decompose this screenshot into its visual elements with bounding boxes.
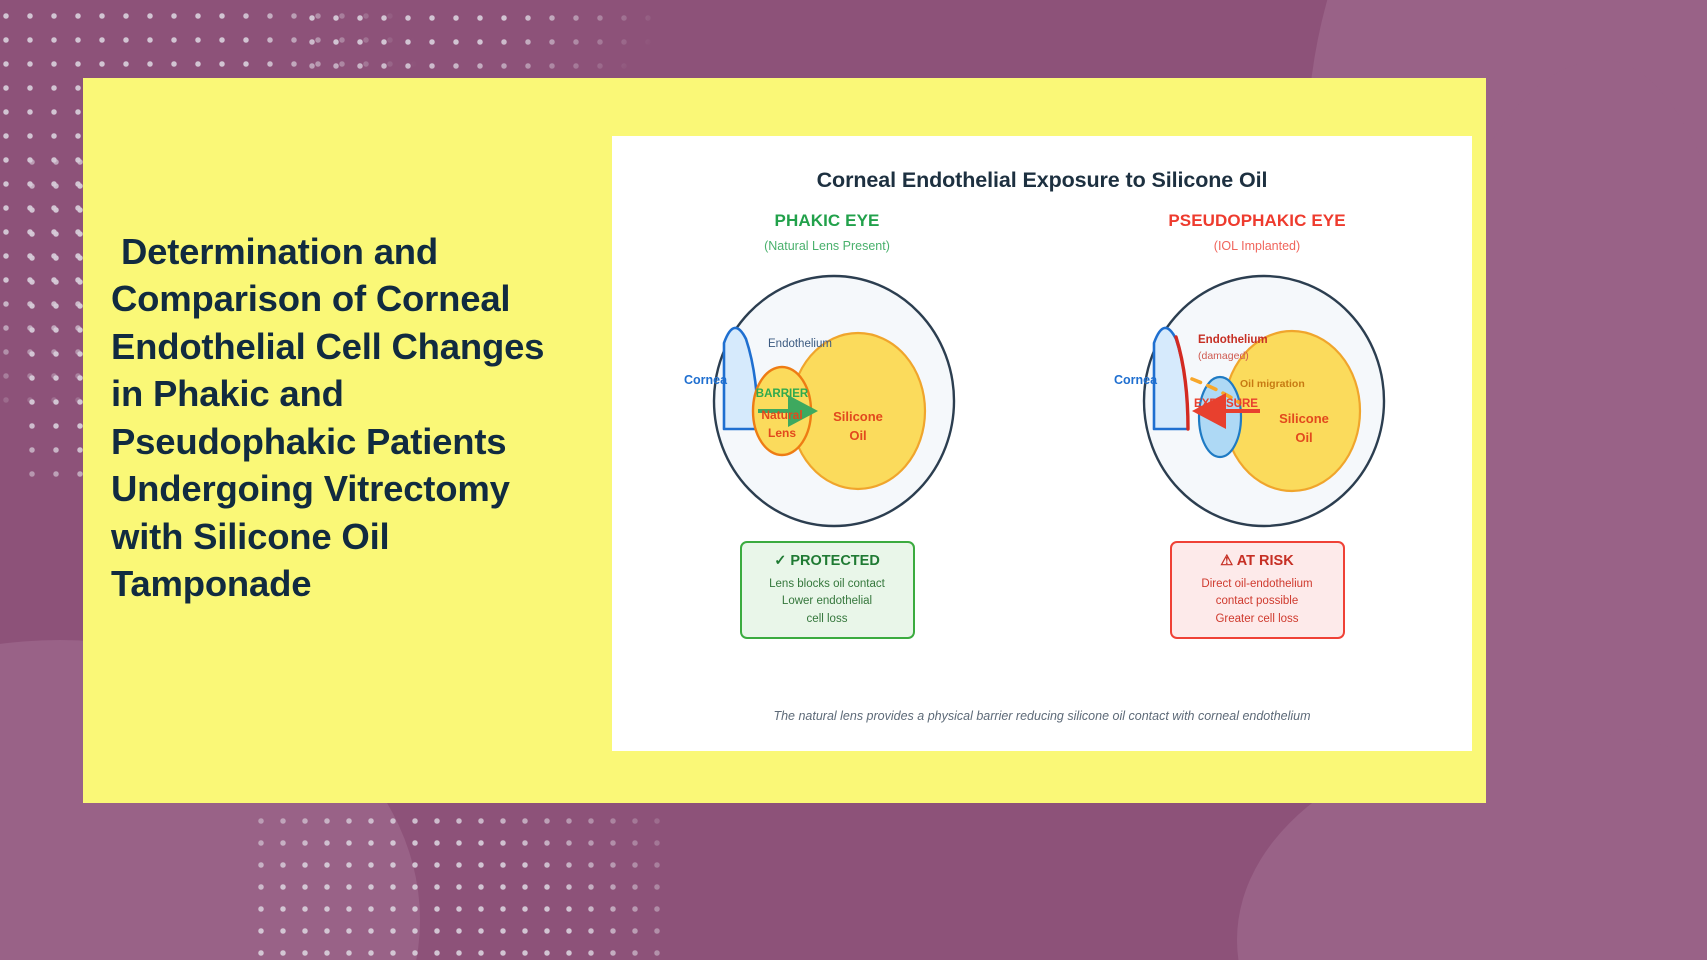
status-line: Lower endothelial [748,593,907,610]
presentation-slide: Determination and Comparison of Corneal … [0,0,1707,960]
label-natural-lens-line2: Lens [768,426,796,440]
status-badge-at-risk: ⚠ AT RISK Direct oil-endothelium contact… [1170,541,1345,639]
label-endothelium-phakic: Endothelium [768,338,832,350]
label-exposure: EXPOSURE [1194,398,1258,410]
status-detail-protected: Lens blocks oil contact Lower endothelia… [748,576,907,628]
status-label-protected: PROTECTED [790,553,879,569]
label-endothelium-damaged-note: (damaged) [1198,350,1249,362]
status-line: Greater cell loss [1178,611,1337,628]
status-line: Direct oil-endothelium [1178,576,1337,593]
label-silicone-oil-line1-phakic: Silicone [833,409,883,424]
diagram-title: Corneal Endothelial Exposure to Silicone… [612,168,1472,193]
status-detail-at-risk: Direct oil-endothelium contact possible … [1178,576,1337,628]
status-title-protected: ✓ PROTECTED [748,553,907,569]
label-barrier: BARRIER [756,388,809,400]
status-line: Lens blocks oil contact [748,576,907,593]
warning-triangle-icon: ⚠ [1220,553,1233,569]
label-cornea-phakic: Cornea [684,373,728,387]
panel-pseudophakic-eye: PSEUDOPHAKIC EYE (IOL Implanted) [1042,211,1472,639]
check-mark-icon: ✓ [774,553,786,569]
diagram-footer-caption: The natural lens provides a physical bar… [612,709,1472,723]
diagram-card: Corneal Endothelial Exposure to Silicone… [612,136,1472,751]
phakic-eye-labels: Cornea Endothelium BARRIER Natural Lens … [662,271,992,531]
label-endothelium-pseudophakic: Endothelium [1198,334,1268,346]
label-silicone-oil-line2-phakic: Oil [849,428,866,443]
status-badge-protected: ✓ PROTECTED Lens blocks oil contact Lowe… [740,541,915,639]
panel-heading-pseudophakic: PSEUDOPHAKIC EYE [1042,211,1472,231]
panel-phakic-eye: PHAKIC EYE (Natural Lens Present) [612,211,1042,639]
label-natural-lens-line1: Natural [761,408,802,422]
pseudophakic-eye-illustration: Cornea Endothelium (damaged) Oil migrati… [1092,271,1422,531]
status-line: cell loss [748,611,907,628]
label-silicone-oil-line2-pseudophakic: Oil [1295,430,1312,445]
phakic-eye-illustration: Cornea Endothelium BARRIER Natural Lens … [662,271,992,531]
slide-content-panel: Determination and Comparison of Corneal … [83,78,1486,803]
label-oil-migration: Oil migration [1240,378,1305,390]
panel-subheading-phakic: (Natural Lens Present) [612,239,1042,253]
pseudophakic-eye-labels: Cornea Endothelium (damaged) Oil migrati… [1092,271,1422,531]
label-cornea-pseudophakic: Cornea [1114,373,1158,387]
diagram-panels: PHAKIC EYE (Natural Lens Present) [612,211,1472,639]
panel-heading-phakic: PHAKIC EYE [612,211,1042,231]
status-line: contact possible [1178,593,1337,610]
page-title: Determination and Comparison of Corneal … [111,228,581,608]
status-label-at-risk: AT RISK [1237,553,1294,569]
panel-subheading-pseudophakic: (IOL Implanted) [1042,239,1472,253]
label-silicone-oil-line1-pseudophakic: Silicone [1279,411,1329,426]
title-block: Determination and Comparison of Corneal … [111,228,581,608]
status-title-at-risk: ⚠ AT RISK [1178,553,1337,569]
